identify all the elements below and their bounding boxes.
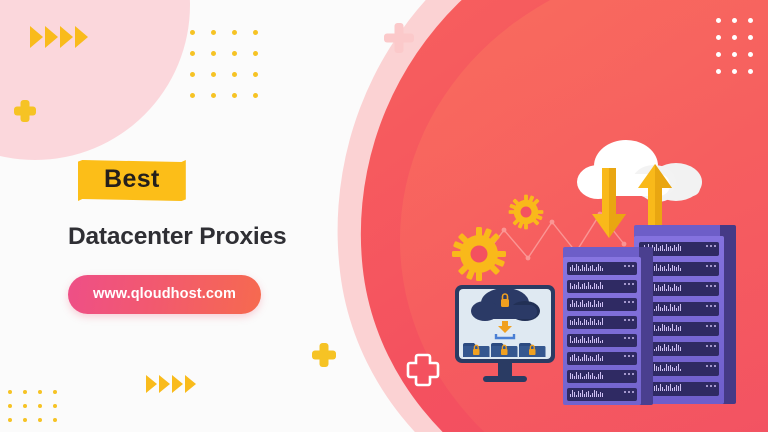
dot-grid-bottom-left bbox=[8, 390, 68, 432]
website-url-button[interactable]: www.qloudhost.com bbox=[68, 275, 261, 314]
monitor-screen bbox=[459, 289, 551, 359]
monitor-base bbox=[483, 376, 527, 382]
dot-grid-top-left bbox=[190, 30, 274, 114]
plus-outline-icon bbox=[405, 352, 441, 388]
text-column: Best Datacenter Proxies www.qloudhost.co… bbox=[68, 160, 368, 314]
desktop-monitor bbox=[455, 285, 555, 382]
pink-blob-decoration bbox=[0, 0, 190, 160]
plus-icon-bottom-center bbox=[312, 343, 336, 367]
arrows-top-left bbox=[30, 26, 88, 48]
gear-icon-large bbox=[451, 226, 507, 287]
download-tray-icon bbox=[496, 321, 514, 338]
plus-icon-top-center bbox=[384, 23, 414, 53]
server-rack-left bbox=[563, 257, 653, 405]
headline-title: Datacenter Proxies bbox=[68, 223, 368, 251]
monitor-stand bbox=[498, 363, 512, 376]
dot-grid-top-right bbox=[716, 18, 764, 86]
folder-icon-3 bbox=[519, 343, 546, 357]
best-badge: Best bbox=[78, 160, 186, 201]
plus-icon-top-left bbox=[14, 100, 36, 122]
cloud-padlock-icon bbox=[471, 289, 540, 321]
monitor-frame bbox=[455, 285, 555, 363]
folder-icon-2 bbox=[491, 343, 518, 357]
folder-icon-1 bbox=[463, 343, 490, 357]
gear-icon-small bbox=[508, 194, 544, 235]
arrows-bottom-left bbox=[146, 375, 196, 393]
promo-banner: Best Datacenter Proxies www.qloudhost.co… bbox=[0, 0, 768, 432]
